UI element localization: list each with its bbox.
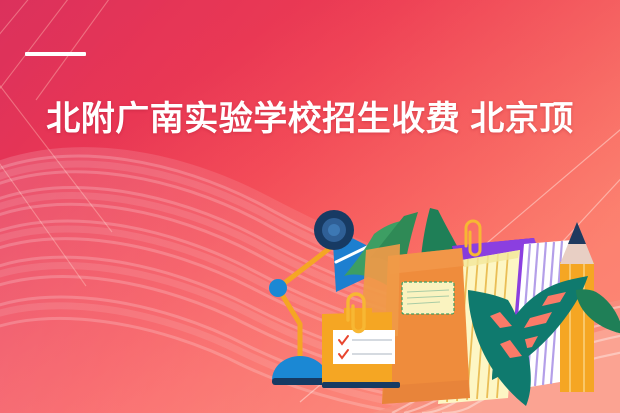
pencil-tip [568, 222, 586, 244]
school-supplies-illustration [0, 0, 620, 413]
clipboard-shadow-bar [322, 382, 400, 388]
lamp-base [272, 356, 328, 380]
banner-image: 北附广南实验学校招生收费 北京顶 [0, 0, 620, 413]
accent-rule [25, 52, 86, 56]
clipboard [322, 308, 400, 388]
lamp-bulb [328, 224, 340, 236]
page-title: 北附广南实验学校招生收费 北京顶 [0, 98, 620, 141]
lamp-joint [269, 279, 287, 297]
